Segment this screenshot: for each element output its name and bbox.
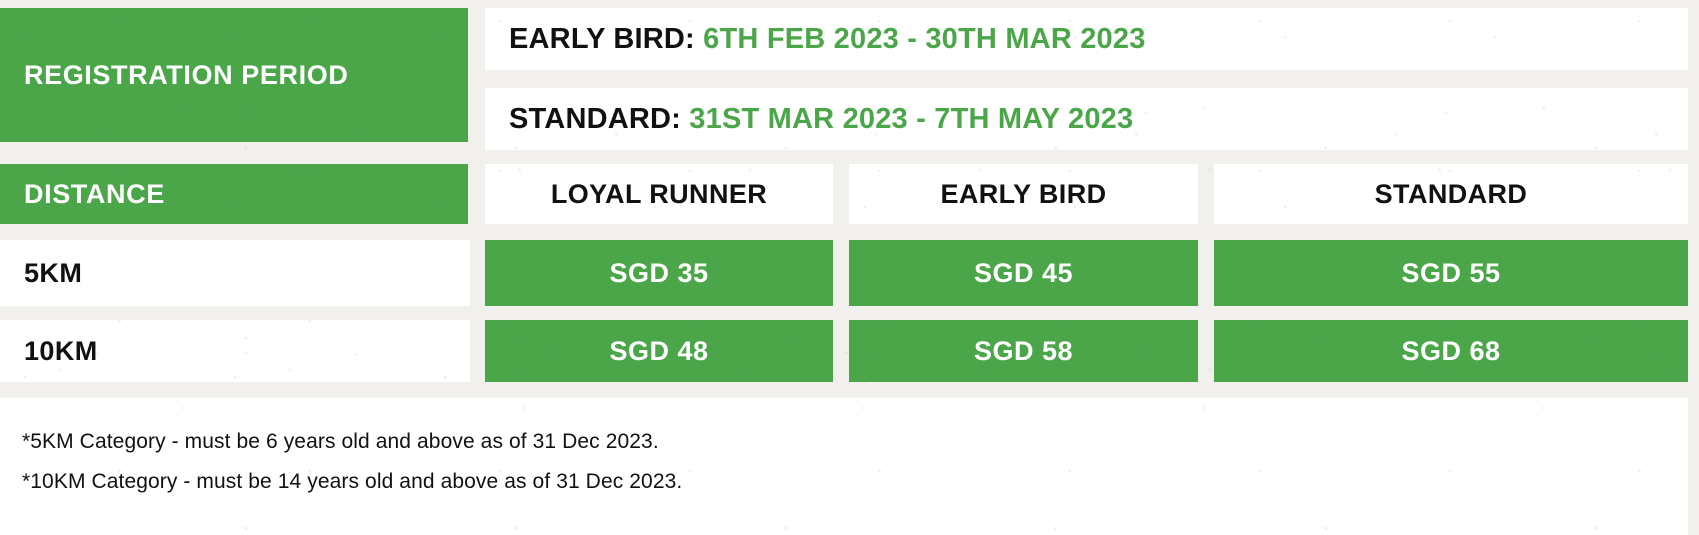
price-label: SGD 58: [974, 336, 1073, 367]
column-header-label: STANDARD: [1375, 179, 1528, 210]
footnote-10km: *10KM Category - must be 14 years old an…: [22, 462, 1688, 502]
distance-label: 10KM: [24, 336, 98, 367]
table-row-distance-10km: 10KM: [0, 320, 470, 382]
period-early-bird-value: 6TH FEB 2023 - 30TH MAR 2023: [703, 23, 1145, 55]
price-cell-5km-standard: SGD 55: [1214, 240, 1688, 306]
column-header-early-bird: EARLY BIRD: [849, 164, 1198, 224]
period-standard-value: 31ST MAR 2023 - 7TH MAY 2023: [689, 103, 1133, 135]
footnote-5km: *5KM Category - must be 6 years old and …: [22, 422, 1688, 462]
distance-label: 5KM: [24, 258, 82, 289]
price-cell-10km-standard: SGD 68: [1214, 320, 1688, 382]
footnotes-panel: *5KM Category - must be 6 years old and …: [0, 398, 1688, 535]
price-label: SGD 45: [974, 258, 1073, 289]
price-cell-10km-early-bird: SGD 58: [849, 320, 1198, 382]
column-header-loyal-runner: LOYAL RUNNER: [485, 164, 833, 224]
price-label: SGD 55: [1401, 258, 1500, 289]
price-label: SGD 35: [609, 258, 708, 289]
period-row-standard: STANDARD: 31ST MAR 2023 - 7TH MAY 2023: [485, 88, 1688, 150]
column-header-label: EARLY BIRD: [940, 179, 1106, 210]
period-early-bird-text: EARLY BIRD: 6TH FEB 2023 - 30TH MAR 2023: [509, 23, 1146, 56]
table-row-distance-5km: 5KM: [0, 240, 470, 306]
registration-fee-table: REGISTRATION PERIOD EARLY BIRD: 6TH FEB …: [0, 0, 1699, 535]
period-early-bird-label: EARLY BIRD:: [509, 23, 695, 55]
price-label: SGD 68: [1401, 336, 1500, 367]
price-cell-5km-loyal-runner: SGD 35: [485, 240, 833, 306]
price-cell-5km-early-bird: SGD 45: [849, 240, 1198, 306]
column-header-standard: STANDARD: [1214, 164, 1688, 224]
distance-header-label: DISTANCE: [24, 179, 165, 210]
registration-period-header: REGISTRATION PERIOD: [0, 8, 468, 142]
distance-column-header: DISTANCE: [0, 164, 468, 224]
column-header-label: LOYAL RUNNER: [551, 179, 767, 210]
period-standard-label: STANDARD:: [509, 103, 681, 135]
registration-period-label: REGISTRATION PERIOD: [24, 60, 348, 91]
price-label: SGD 48: [609, 336, 708, 367]
period-standard-text: STANDARD: 31ST MAR 2023 - 7TH MAY 2023: [509, 103, 1133, 136]
price-cell-10km-loyal-runner: SGD 48: [485, 320, 833, 382]
period-row-early-bird: EARLY BIRD: 6TH FEB 2023 - 30TH MAR 2023: [485, 8, 1688, 70]
